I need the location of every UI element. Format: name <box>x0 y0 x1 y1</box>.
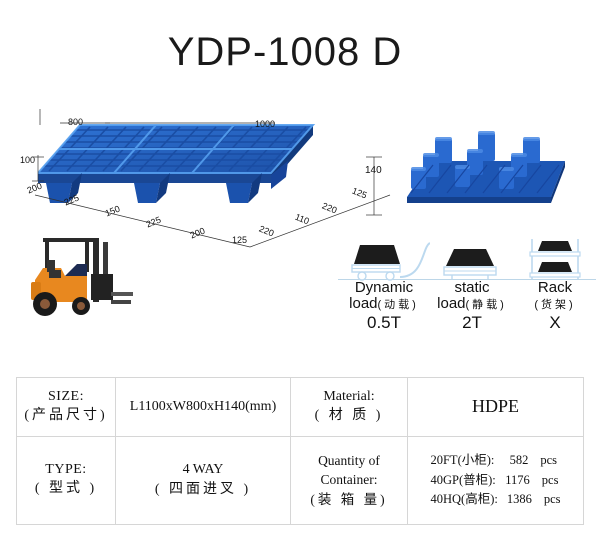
load-capacity-group: Dynamic load(动载) 0.5T static load(静载) <box>338 235 596 345</box>
quantity-list: 20FT(小柜):582pcs 40GP(普柜):1176pcs 40HQ(高柜… <box>430 451 560 509</box>
forklift-image <box>25 230 135 325</box>
dynamic-load-label-line1: Dynamic <box>338 280 430 296</box>
load-item-rack: Rack (货架) X <box>514 235 596 333</box>
table-row-type: TYPE: ( 型式 ) 4 WAY ( 四面进叉 ) Quantity of … <box>17 436 584 525</box>
cell-type-label: TYPE: ( 型式 ) <box>17 436 116 525</box>
material-label-en: Material: <box>292 388 406 407</box>
page-title: YDP-1008 D <box>0 30 600 75</box>
specification-table: SIZE: (产品尺寸) L1100xW800xH140(mm) Materia… <box>16 377 584 525</box>
quantity-label-line2: Container: <box>292 470 406 490</box>
pallet-bottom-view-image <box>405 117 577 212</box>
quantity-label-line3: (装 箱 量) <box>292 490 406 510</box>
load-item-static: static load(静载) 2T <box>430 235 514 333</box>
dynamic-load-label-line2: load(动载) <box>338 296 430 312</box>
qty-unit-40hq: pcs <box>544 492 561 506</box>
qty-unit-40gp: pcs <box>542 473 559 487</box>
type-label-cn: ( 型式 ) <box>18 480 114 499</box>
rack-value: X <box>514 313 596 333</box>
cell-quantity-label: Quantity of Container: (装 箱 量) <box>291 436 408 525</box>
rack-label-cn: (货架) <box>534 299 575 311</box>
static-load-icon <box>430 235 514 280</box>
cell-size-value: L1100xW800xH140(mm) <box>116 378 291 437</box>
qty-cn-20ft: (小柜) <box>458 453 491 467</box>
size-label-cn: (产品尺寸) <box>18 407 114 426</box>
rack-label-line2: (货架) <box>514 296 596 312</box>
dynamic-load-label-en: load <box>349 295 377 312</box>
qty-cn-40hq: (高柜) <box>461 492 494 506</box>
qty-num-40gp: 1176 <box>496 471 530 490</box>
quantity-row-40gp: 40GP(普柜):1176pcs <box>430 471 560 490</box>
load-item-dynamic: Dynamic load(动载) 0.5T <box>338 235 430 333</box>
qty-num-20ft: 582 <box>494 451 528 470</box>
quantity-row-40hq: 40HQ(高柜):1386pcs <box>430 490 560 509</box>
type-value-cn: ( 四面进叉 ) <box>117 478 289 498</box>
type-value-en: 4 WAY <box>117 462 289 478</box>
dynamic-load-label-cn: (动载) <box>378 299 419 311</box>
cell-type-value: 4 WAY ( 四面进叉 ) <box>116 436 291 525</box>
table-row-size: SIZE: (产品尺寸) L1100xW800xH140(mm) Materia… <box>17 378 584 437</box>
cell-size-label: SIZE: (产品尺寸) <box>17 378 116 437</box>
dynamic-load-icon <box>338 235 430 280</box>
static-load-value: 2T <box>430 313 514 333</box>
qty-code-40hq: 40HQ <box>430 492 461 506</box>
diagram-area: 800 1000 100 140 200 225 150 225 200 125… <box>0 95 600 345</box>
qty-num-40hq: 1386 <box>498 490 532 509</box>
quantity-row-20ft: 20FT(小柜):582pcs <box>430 451 560 470</box>
quantity-label-line1: Quantity of <box>292 451 406 471</box>
type-label-en: TYPE: <box>18 461 114 480</box>
qty-unit-20ft: pcs <box>540 453 557 467</box>
product-spec-sheet: YDP-1008 D <box>0 0 600 539</box>
qty-code-40gp: 40GP <box>430 473 458 487</box>
qty-code-20ft: 20FT <box>430 453 457 467</box>
static-load-label-line1: static <box>430 280 514 296</box>
cell-material-value: HDPE <box>408 378 584 437</box>
static-load-label-line2: load(静载) <box>430 296 514 312</box>
material-label-cn: ( 材 质 ) <box>292 407 406 426</box>
rack-label-line1: Rack <box>514 280 596 296</box>
static-load-label-cn: (静载) <box>466 299 507 311</box>
rack-load-icon <box>514 235 596 280</box>
size-label-en: SIZE: <box>18 388 114 407</box>
cell-quantity-value: 20FT(小柜):582pcs 40GP(普柜):1176pcs 40HQ(高柜… <box>408 436 584 525</box>
dynamic-load-value: 0.5T <box>338 313 430 333</box>
static-load-label-en: load <box>437 295 465 312</box>
qty-cn-40gp: (普柜) <box>459 473 492 487</box>
cell-material-label: Material: ( 材 质 ) <box>291 378 408 437</box>
